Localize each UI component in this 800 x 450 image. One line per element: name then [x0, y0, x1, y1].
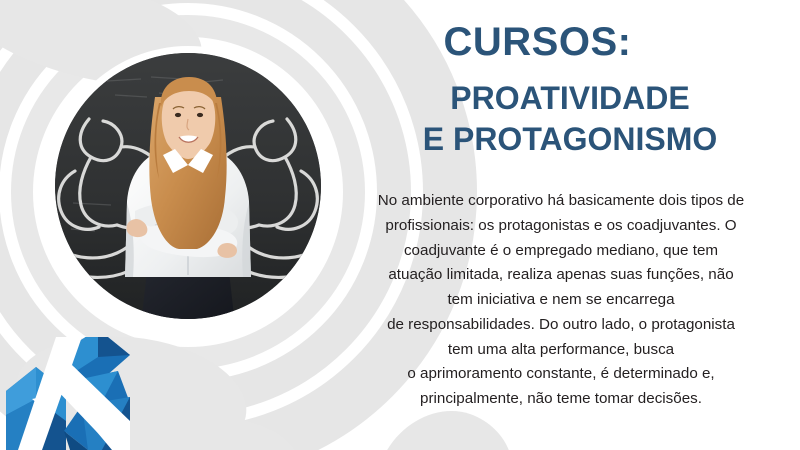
body-line-4: atuação limitada, realiza apenas suas fu…	[330, 263, 792, 288]
body-line-6: de responsabilidades. Do outro lado, o p…	[330, 313, 792, 338]
body-line-5: tem iniciativa e nem se encarrega	[330, 288, 792, 313]
speaker-photo	[55, 53, 321, 319]
page-subtitle: PROATIVIDADE E PROTAGONISMO	[345, 78, 795, 160]
subtitle-line-2: E PROTAGONISMO	[345, 119, 795, 160]
body-line-8: o aprimoramento constante, é determinado…	[330, 362, 792, 387]
body-line-2: profissionais: os protagonistas e os coa…	[330, 214, 792, 239]
body-line-7: tem uma alta performance, busca	[330, 338, 792, 363]
subtitle-line-1: PROATIVIDADE	[345, 78, 795, 119]
body-line-1: No ambiente corporativo há basicamente d…	[330, 189, 792, 214]
logo-k-facets	[6, 337, 130, 450]
body-line-3: coadjuvante é o empregado mediano, que t…	[330, 239, 792, 264]
company-logo[interactable]	[2, 337, 130, 450]
body-line-9: principalmente, não teme tomar decisões.	[330, 387, 792, 412]
text-column: CURSOS: PROATIVIDADE E PROTAGONISMO No a…	[325, 0, 795, 450]
page-title: CURSOS:	[325, 22, 750, 64]
slide-canvas: CURSOS: PROATIVIDADE E PROTAGONISMO No a…	[0, 0, 800, 450]
body-paragraph: No ambiente corporativo há basicamente d…	[330, 189, 792, 412]
